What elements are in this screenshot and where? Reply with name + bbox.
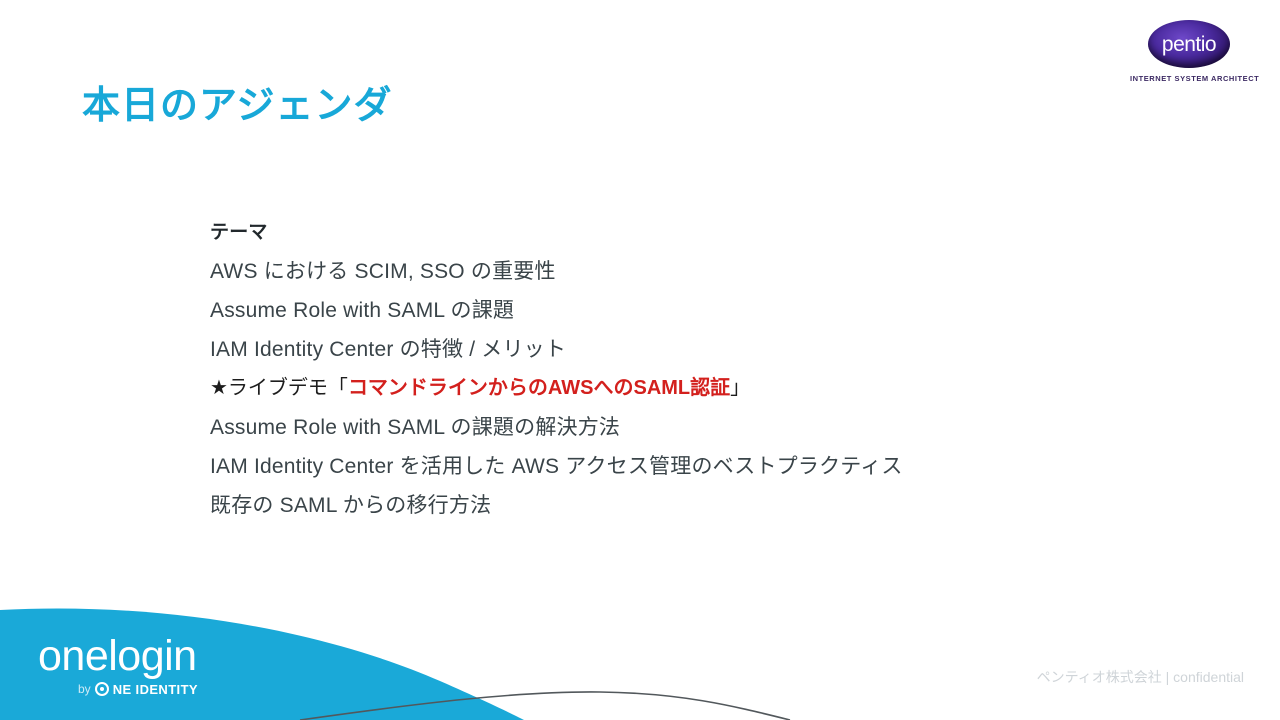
one-identity-wordmark: NE IDENTITY (113, 682, 198, 697)
onelogin-logo: onelogin by NE IDENTITY (38, 634, 238, 702)
list-item: IAM Identity Center を活用した AWS アクセス管理のベスト… (210, 447, 1110, 486)
footer-confidential-note: ペンティオ株式会社 | confidential (1037, 667, 1244, 687)
pentio-ellipse-icon: pentio (1148, 20, 1230, 68)
page-title: 本日のアジェンダ (82, 86, 392, 128)
agenda-heading: テーマ (210, 213, 1110, 252)
pentio-logo: pentio INTERNET SYSTEM ARCHITECT (1130, 20, 1248, 83)
onelogin-wordmark: onelogin (38, 634, 238, 678)
demo-prefix-text: ★ライブデモ「 (210, 377, 348, 399)
list-item: Assume Role with SAML の課題の解決方法 (210, 408, 1110, 447)
slide-canvas: 本日のアジェンダ テーマ AWS における SCIM, SSO の重要性 Ass… (0, 0, 1280, 720)
list-item: IAM Identity Center の特徴 / メリット (210, 330, 1110, 369)
pentio-tagline: INTERNET SYSTEM ARCHITECT (1130, 74, 1248, 83)
onelogin-byline: by NE IDENTITY (38, 680, 238, 698)
by-label: by (78, 682, 91, 696)
agenda-list: テーマ AWS における SCIM, SSO の重要性 Assume Role … (210, 213, 1110, 525)
list-item-live-demo: ★ライブデモ「コマンドラインからのAWSへのSAML認証」 (210, 369, 1110, 408)
one-identity-circle-icon (95, 682, 109, 696)
demo-highlight-text: コマンドラインからのAWSへのSAML認証 (348, 377, 730, 399)
pentio-wordmark: pentio (1162, 34, 1216, 55)
list-item: AWS における SCIM, SSO の重要性 (210, 252, 1110, 291)
list-item: 既存の SAML からの移行方法 (210, 486, 1110, 525)
demo-suffix-text: 」 (730, 377, 750, 399)
list-item: Assume Role with SAML の課題 (210, 291, 1110, 330)
